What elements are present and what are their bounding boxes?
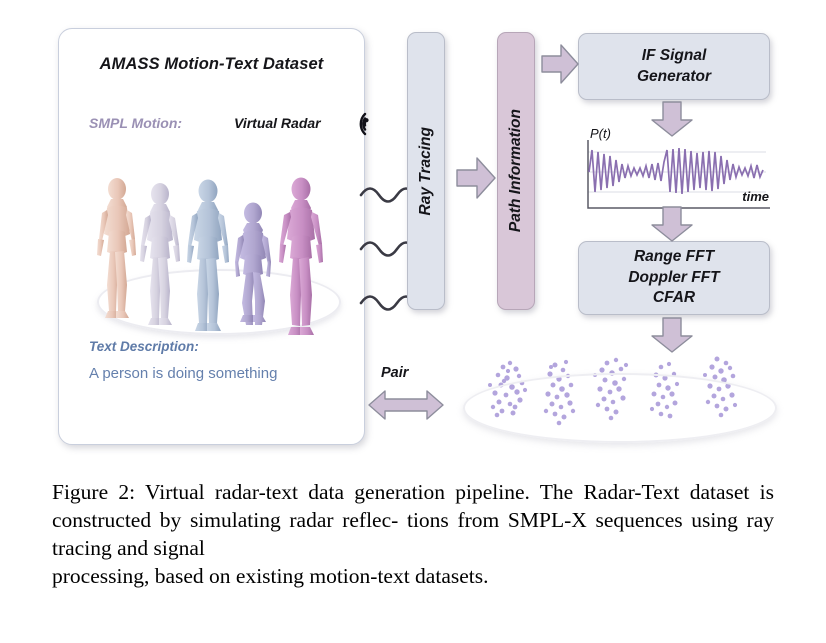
- box-path-information: Path Information: [497, 32, 535, 310]
- box-if-signal-line1: IF Signal: [642, 46, 707, 66]
- arrow-path-information-to-if-signal: [540, 42, 580, 86]
- point-cloud-ellipse: [463, 373, 777, 443]
- plot-xlabel: time: [742, 189, 769, 204]
- dataset-card: AMASS Motion-Text Dataset SMPL Motion: V…: [58, 28, 365, 445]
- smpl-motion-label: SMPL Motion:: [89, 115, 182, 131]
- box-path-information-label: Path Information: [507, 109, 525, 232]
- text-description-label: Text Description:: [89, 339, 199, 354]
- figure-caption: Figure 2: Virtual radar-text data genera…: [52, 478, 774, 591]
- box-fft-line3: CFAR: [653, 288, 695, 308]
- smpl-human-stage: [77, 141, 352, 341]
- plot-ylabel: P(t): [590, 126, 611, 141]
- box-fft-cfar: Range FFT Doppler FFT CFAR: [578, 241, 770, 315]
- arrow-ray-tracing-to-path-information: [455, 155, 497, 201]
- box-if-signal-generator: IF Signal Generator: [578, 33, 770, 100]
- pair-label: Pair: [381, 365, 408, 381]
- text-description-value: A person is doing something: [89, 365, 277, 382]
- box-if-signal-line2: Generator: [637, 67, 711, 87]
- box-ray-tracing: Ray Tracing: [407, 32, 445, 310]
- human-mesh-5: [273, 173, 331, 341]
- box-fft-line2: Doppler FFT: [628, 268, 719, 288]
- radar-waves-icon: [340, 107, 374, 141]
- figure-pipeline-diagram: AMASS Motion-Text Dataset SMPL Motion: V…: [0, 0, 826, 470]
- arrow-pair-bidirectional: [367, 388, 445, 422]
- human-mesh-2: [135, 179, 187, 331]
- virtual-radar-label: Virtual Radar: [234, 115, 321, 131]
- caption-line-4: processing, based on existing motion-tex…: [52, 562, 774, 590]
- radar-point-cloud: [455, 345, 785, 450]
- human-mesh-4: [229, 195, 279, 327]
- arrow-if-signal-to-plot: [649, 100, 695, 138]
- arrow-plot-to-fft: [649, 205, 695, 243]
- dataset-title: AMASS Motion-Text Dataset: [59, 55, 364, 74]
- box-ray-tracing-label: Ray Tracing: [417, 127, 435, 215]
- caption-line-1: Figure 2: Virtual radar-text data genera…: [52, 480, 573, 504]
- box-fft-line1: Range FFT: [634, 247, 714, 267]
